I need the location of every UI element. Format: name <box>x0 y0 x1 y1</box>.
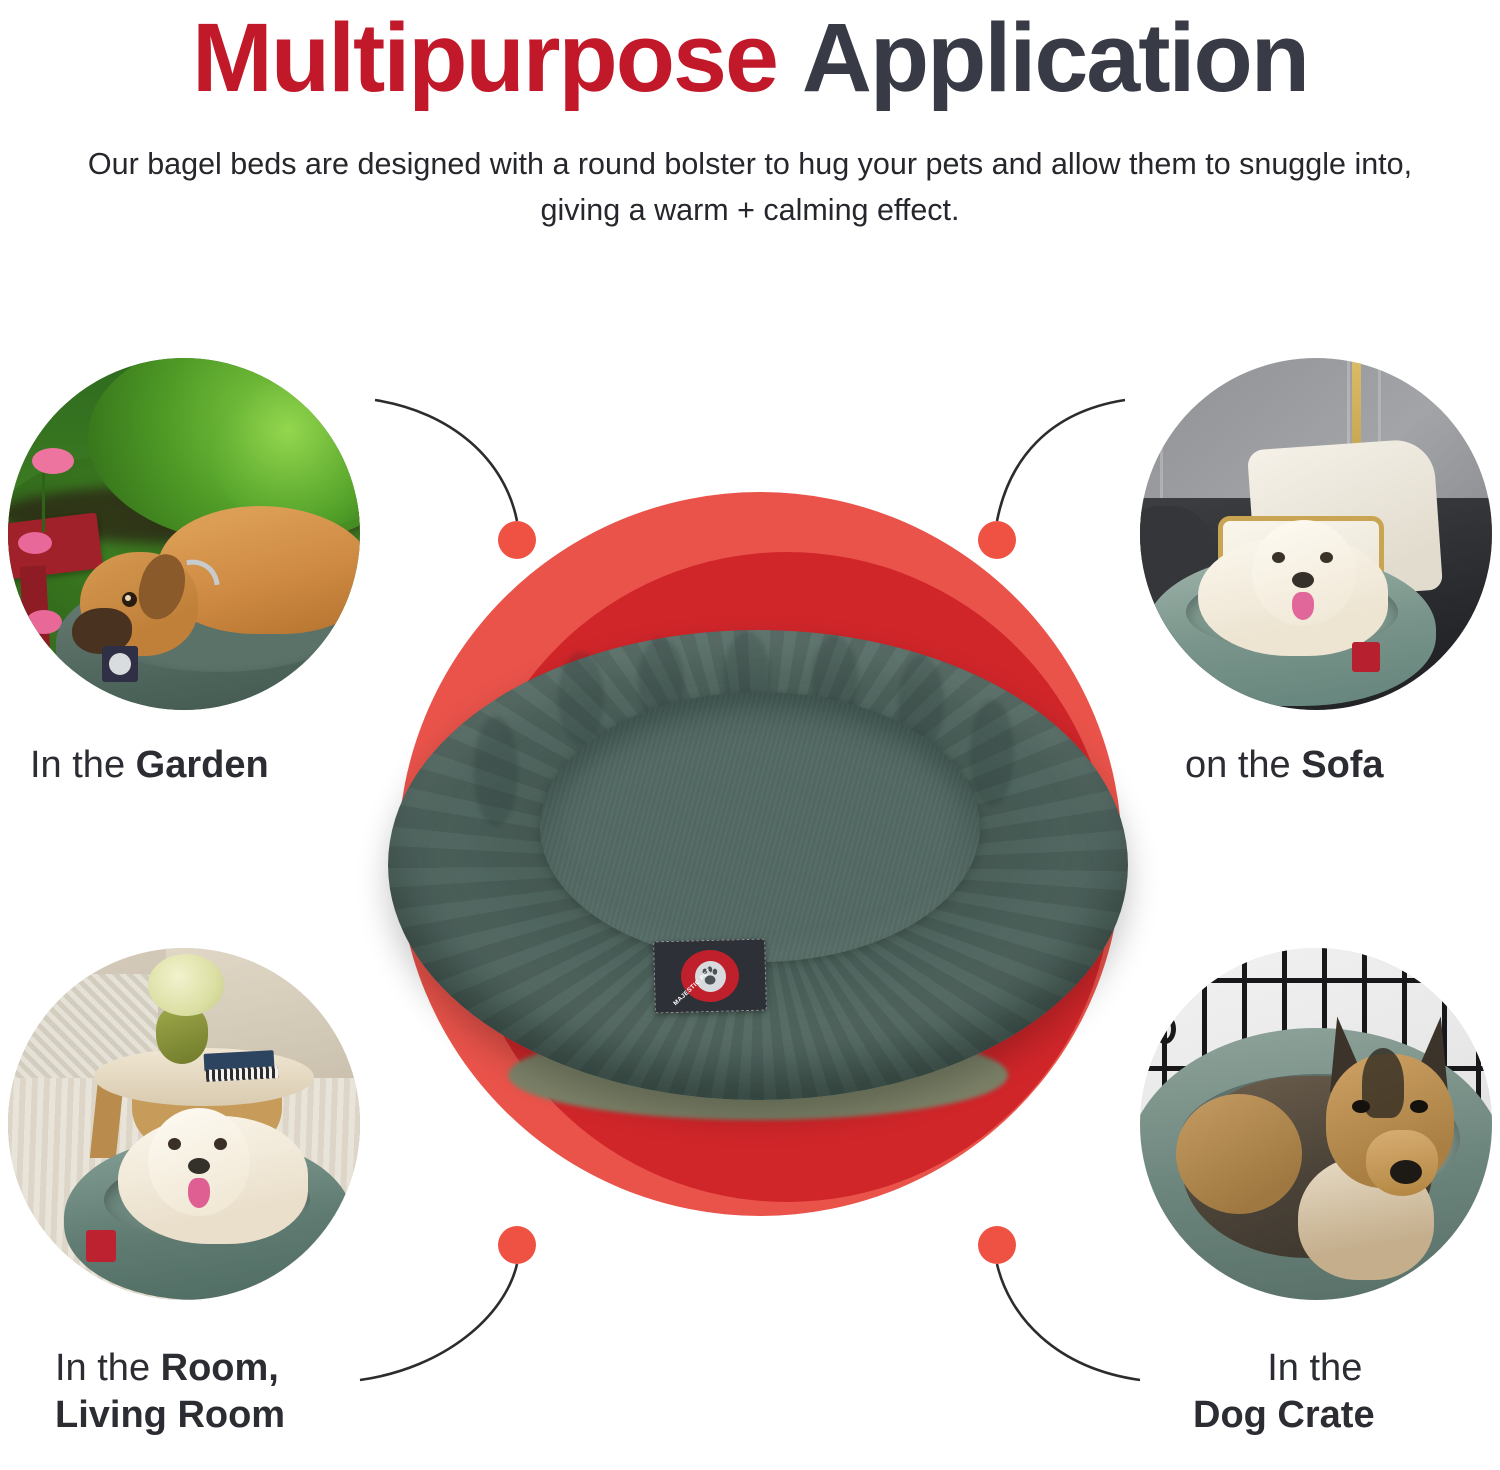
connector-dot-sofa <box>978 521 1016 559</box>
labrador-nose <box>1292 572 1314 588</box>
pink-flower <box>32 448 74 474</box>
german-shepherd-eye <box>1410 1100 1428 1113</box>
label-garden: In the Garden <box>30 742 269 789</box>
bed-brand-tag <box>86 1230 116 1262</box>
photo-garden <box>8 358 360 710</box>
label-crate-line1: In the <box>1255 1345 1375 1392</box>
brand-label-tag: MAJESTIC PET <box>653 939 767 1014</box>
eye-highlight <box>125 595 131 601</box>
labrador-tongue <box>1292 592 1314 620</box>
german-shepherd-nose <box>1390 1160 1422 1184</box>
brand-disc: MAJESTIC PET <box>680 949 739 1003</box>
label-living-room: In the Room, Living Room <box>55 1345 285 1439</box>
connector-dot-living <box>498 1226 536 1264</box>
pink-flower <box>18 532 52 554</box>
photo-sofa <box>1140 358 1492 710</box>
german-shepherd-eye <box>1352 1100 1370 1113</box>
label-garden-prefix: In the <box>30 744 136 786</box>
bed-brand-tag <box>102 646 138 682</box>
photo-living-room <box>8 948 360 1300</box>
connector-dot-crate <box>978 1226 1016 1264</box>
label-sofa-prefix: on the <box>1185 744 1301 786</box>
labrador-eye <box>1320 552 1333 563</box>
bolster-rib <box>474 716 518 826</box>
labrador-eye <box>214 1138 227 1150</box>
german-shepherd-haunch <box>1176 1094 1302 1214</box>
connector-dot-garden <box>498 521 536 559</box>
labrador-eye <box>1272 552 1285 563</box>
product-stage: MAJESTIC PET <box>0 0 1500 1470</box>
labrador-eye <box>168 1138 181 1150</box>
labrador-nose <box>188 1158 210 1174</box>
garden-mailbox-post <box>20 565 50 652</box>
flower-stem <box>42 470 45 532</box>
pink-flower <box>26 610 62 634</box>
label-sofa-highlight: Sofa <box>1301 744 1383 786</box>
label-living-highlight: Room, <box>161 1347 279 1389</box>
label-living-prefix: In the <box>55 1347 161 1389</box>
label-crate-line2: Dog Crate <box>1193 1394 1375 1436</box>
label-garden-highlight: Garden <box>136 744 269 786</box>
photo-dog-crate <box>1140 948 1492 1300</box>
label-living-line2: Living Room <box>55 1394 285 1436</box>
paw-print-icon <box>109 653 131 675</box>
bed-cushion <box>540 692 980 962</box>
label-sofa: on the Sofa <box>1185 742 1384 789</box>
bolster-rib <box>558 652 604 744</box>
label-dog-crate: In the Dog Crate <box>1255 1345 1375 1439</box>
hydrangea-flowers <box>148 954 224 1016</box>
bolster-rib <box>970 700 1014 806</box>
bed-brand-tag <box>1352 642 1380 672</box>
product-image-dog-bed: MAJESTIC PET <box>388 630 1128 1140</box>
crate-latch <box>1154 1014 1176 1044</box>
labrador-tongue <box>188 1178 210 1208</box>
